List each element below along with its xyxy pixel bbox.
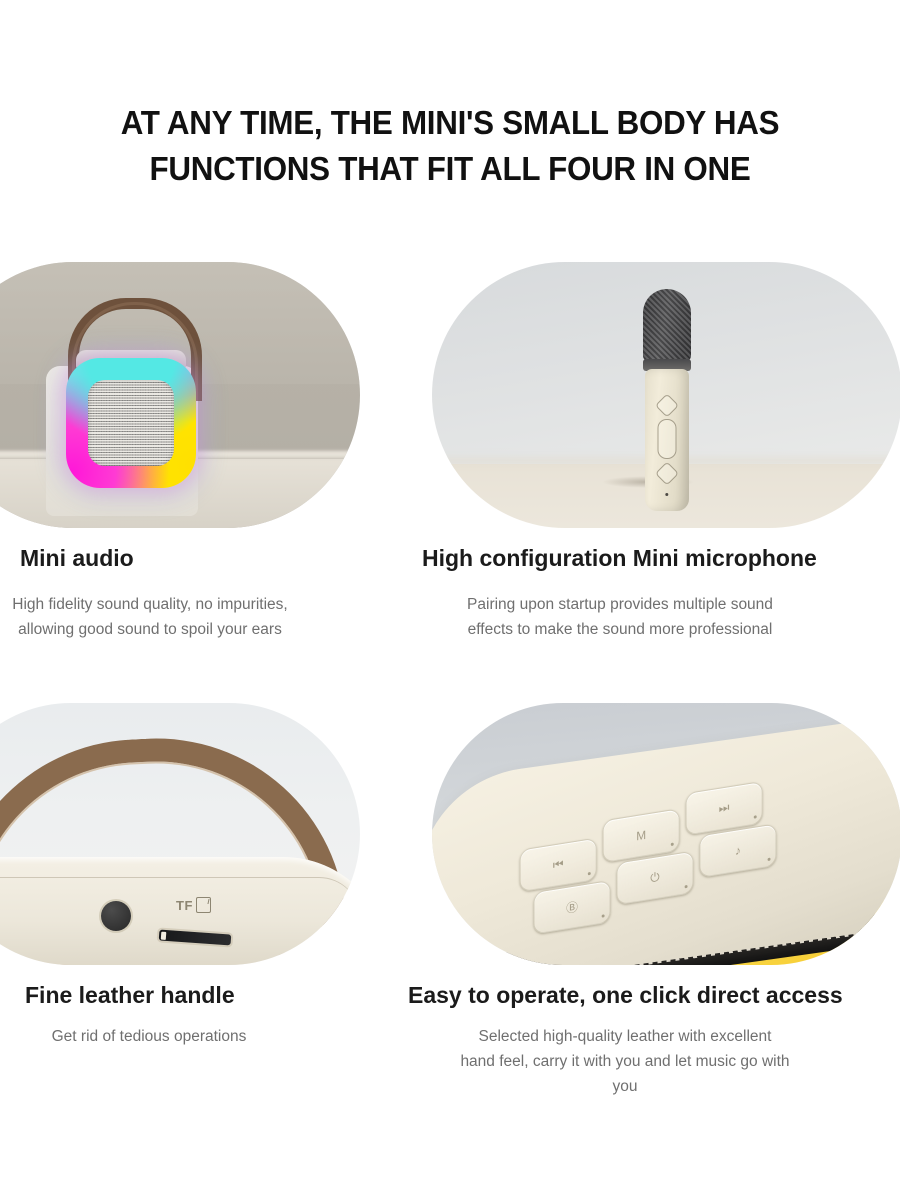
feature-title-easy-operate: Easy to operate, one click direct access <box>408 982 843 1009</box>
feature-image-mini-audio <box>0 262 360 528</box>
previous-track-icon: ⏮ <box>553 856 564 873</box>
button-dot <box>602 914 605 918</box>
page-title-line-1: AT ANY TIME, THE MINI'S SMALL BODY HAS <box>23 100 878 146</box>
microphone <box>635 289 699 511</box>
feature-title-leather-handle: Fine leather handle <box>25 982 235 1009</box>
microphone-volume-down-button <box>655 461 679 485</box>
feature-body-leather-handle: Get rid of tedious operations <box>14 1024 284 1049</box>
feature-body-mini-microphone: Pairing upon startup provides multiple s… <box>450 592 790 642</box>
feature-title-mini-microphone: High configuration Mini microphone <box>422 545 817 572</box>
product-feature-page: AT ANY TIME, THE MINI'S SMALL BODY HAS F… <box>0 0 900 1198</box>
feature-image-easy-operate: ⏮ M ⏭ Ⓑ ⏻ ♪ <box>432 703 900 965</box>
tf-card-label: TF <box>176 897 211 913</box>
page-title: AT ANY TIME, THE MINI'S SMALL BODY HAS F… <box>23 100 878 191</box>
feature-image-leather-handle: TF <box>0 703 360 965</box>
light-mode-icon: ♪ <box>735 843 741 858</box>
microphone-led-indicator <box>665 493 668 496</box>
speaker-mesh-grille <box>88 380 174 466</box>
button-dot <box>588 872 591 876</box>
feature-title-mini-audio: Mini audio <box>20 545 134 572</box>
microphone-body <box>645 369 689 511</box>
button-dot <box>768 858 771 862</box>
tf-label-text: TF <box>176 898 193 913</box>
microphone-mesh-head <box>643 289 691 361</box>
next-track-icon: ⏭ <box>719 800 730 817</box>
bluetooth-icon: Ⓑ <box>566 898 578 917</box>
power-icon: ⏻ <box>650 870 659 887</box>
button-dot <box>685 885 688 889</box>
button-dot <box>754 815 757 819</box>
microphone-power-button <box>658 419 677 459</box>
page-title-line-2: FUNCTIONS THAT FIT ALL FOUR IN ONE <box>23 146 878 192</box>
feature-body-mini-audio: High fidelity sound quality, no impuriti… <box>0 592 300 642</box>
button-dot <box>671 843 674 847</box>
mode-icon: M <box>636 828 646 844</box>
speaker-body-rgb-ring <box>66 358 196 488</box>
charging-port <box>101 901 131 931</box>
feature-image-mini-microphone <box>432 262 900 528</box>
microphone-volume-up-button <box>655 393 679 417</box>
memory-card-icon <box>196 897 211 913</box>
feature-body-easy-operate: Selected high-quality leather with excel… <box>460 1024 790 1099</box>
